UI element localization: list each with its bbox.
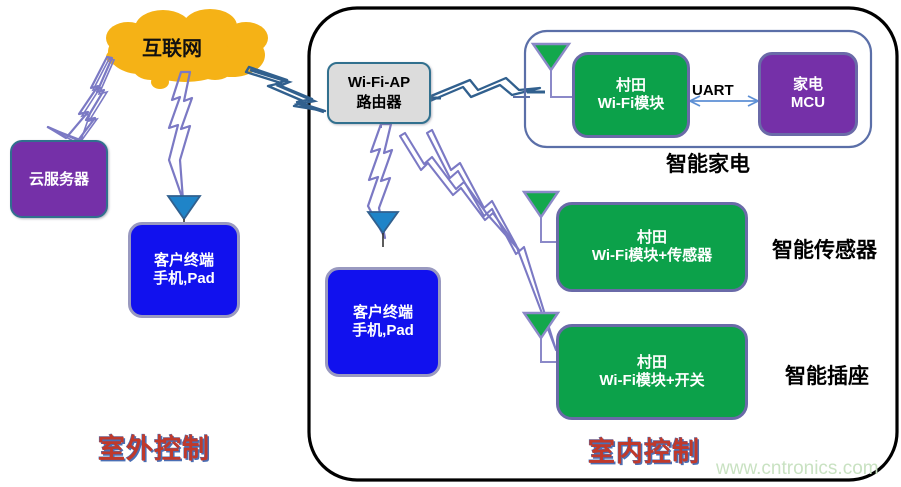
appliance-mcu-line1: 家电 [793, 75, 823, 94]
cloud-server-label: 云服务器 [29, 170, 89, 189]
site-watermark: www.cntronics.com [716, 458, 879, 480]
node-cloud-server[interactable]: 云服务器 [10, 140, 108, 218]
internet-cloud-label: 互联网 [142, 32, 202, 61]
group-label-smart-appliance: 智能家电 [666, 148, 750, 178]
node-client-terminal-outdoor[interactable]: 客户终端 手机,Pad [128, 222, 240, 318]
appliance-mcu-line2: MCU [791, 94, 825, 113]
router-line1: Wi-Fi-AP [348, 74, 410, 93]
node-appliance-wifi-module[interactable]: 村田 Wi-Fi模块 [572, 52, 690, 138]
node-appliance-mcu[interactable]: 家电 MCU [758, 52, 858, 136]
node-socket-wifi-module[interactable]: 村田 Wi-Fi模块+开关 [556, 324, 748, 420]
sensor-module-line1: 村田 [637, 228, 667, 247]
client-indoor-line2: 手机,Pad [352, 322, 414, 341]
link-cloud-to-server-lightning-fill [47, 59, 114, 144]
link-cloud-to-client-outdoor-lightning [169, 72, 192, 200]
client-outdoor-line1: 客户终端 [154, 251, 214, 270]
node-client-terminal-indoor[interactable]: 客户终端 手机,Pad [325, 267, 441, 377]
client-outdoor-line2: 手机,Pad [153, 270, 215, 289]
uart-label: UART [692, 82, 734, 99]
zone-label-indoor: 室内控制 [588, 430, 700, 469]
node-wifi-ap-router[interactable]: Wi-Fi-AP 路由器 [327, 62, 431, 124]
appliance-module-line2: Wi-Fi模块 [598, 95, 665, 114]
network-architecture-diagram: 互联网 云服务器 客户终端 手机,Pad Wi-Fi-AP 路由器 客户终端 手… [0, 0, 901, 487]
client-indoor-line1: 客户终端 [353, 303, 413, 322]
antenna-indoor-client-icon [368, 212, 398, 247]
node-sensor-wifi-module[interactable]: 村田 Wi-Fi模块+传感器 [556, 202, 748, 292]
appliance-module-line1: 村田 [616, 76, 646, 95]
link-router-to-sensor-lightning [400, 133, 519, 250]
socket-module-line2: Wi-Fi模块+开关 [599, 372, 704, 391]
group-label-smart-socket: 智能插座 [785, 360, 869, 390]
sensor-module-line2: Wi-Fi模块+传感器 [592, 247, 712, 266]
zone-label-outdoor: 室外控制 [98, 427, 210, 466]
group-label-smart-sensor: 智能传感器 [772, 234, 877, 264]
socket-module-line1: 村田 [637, 353, 667, 372]
router-line2: 路由器 [356, 93, 401, 112]
